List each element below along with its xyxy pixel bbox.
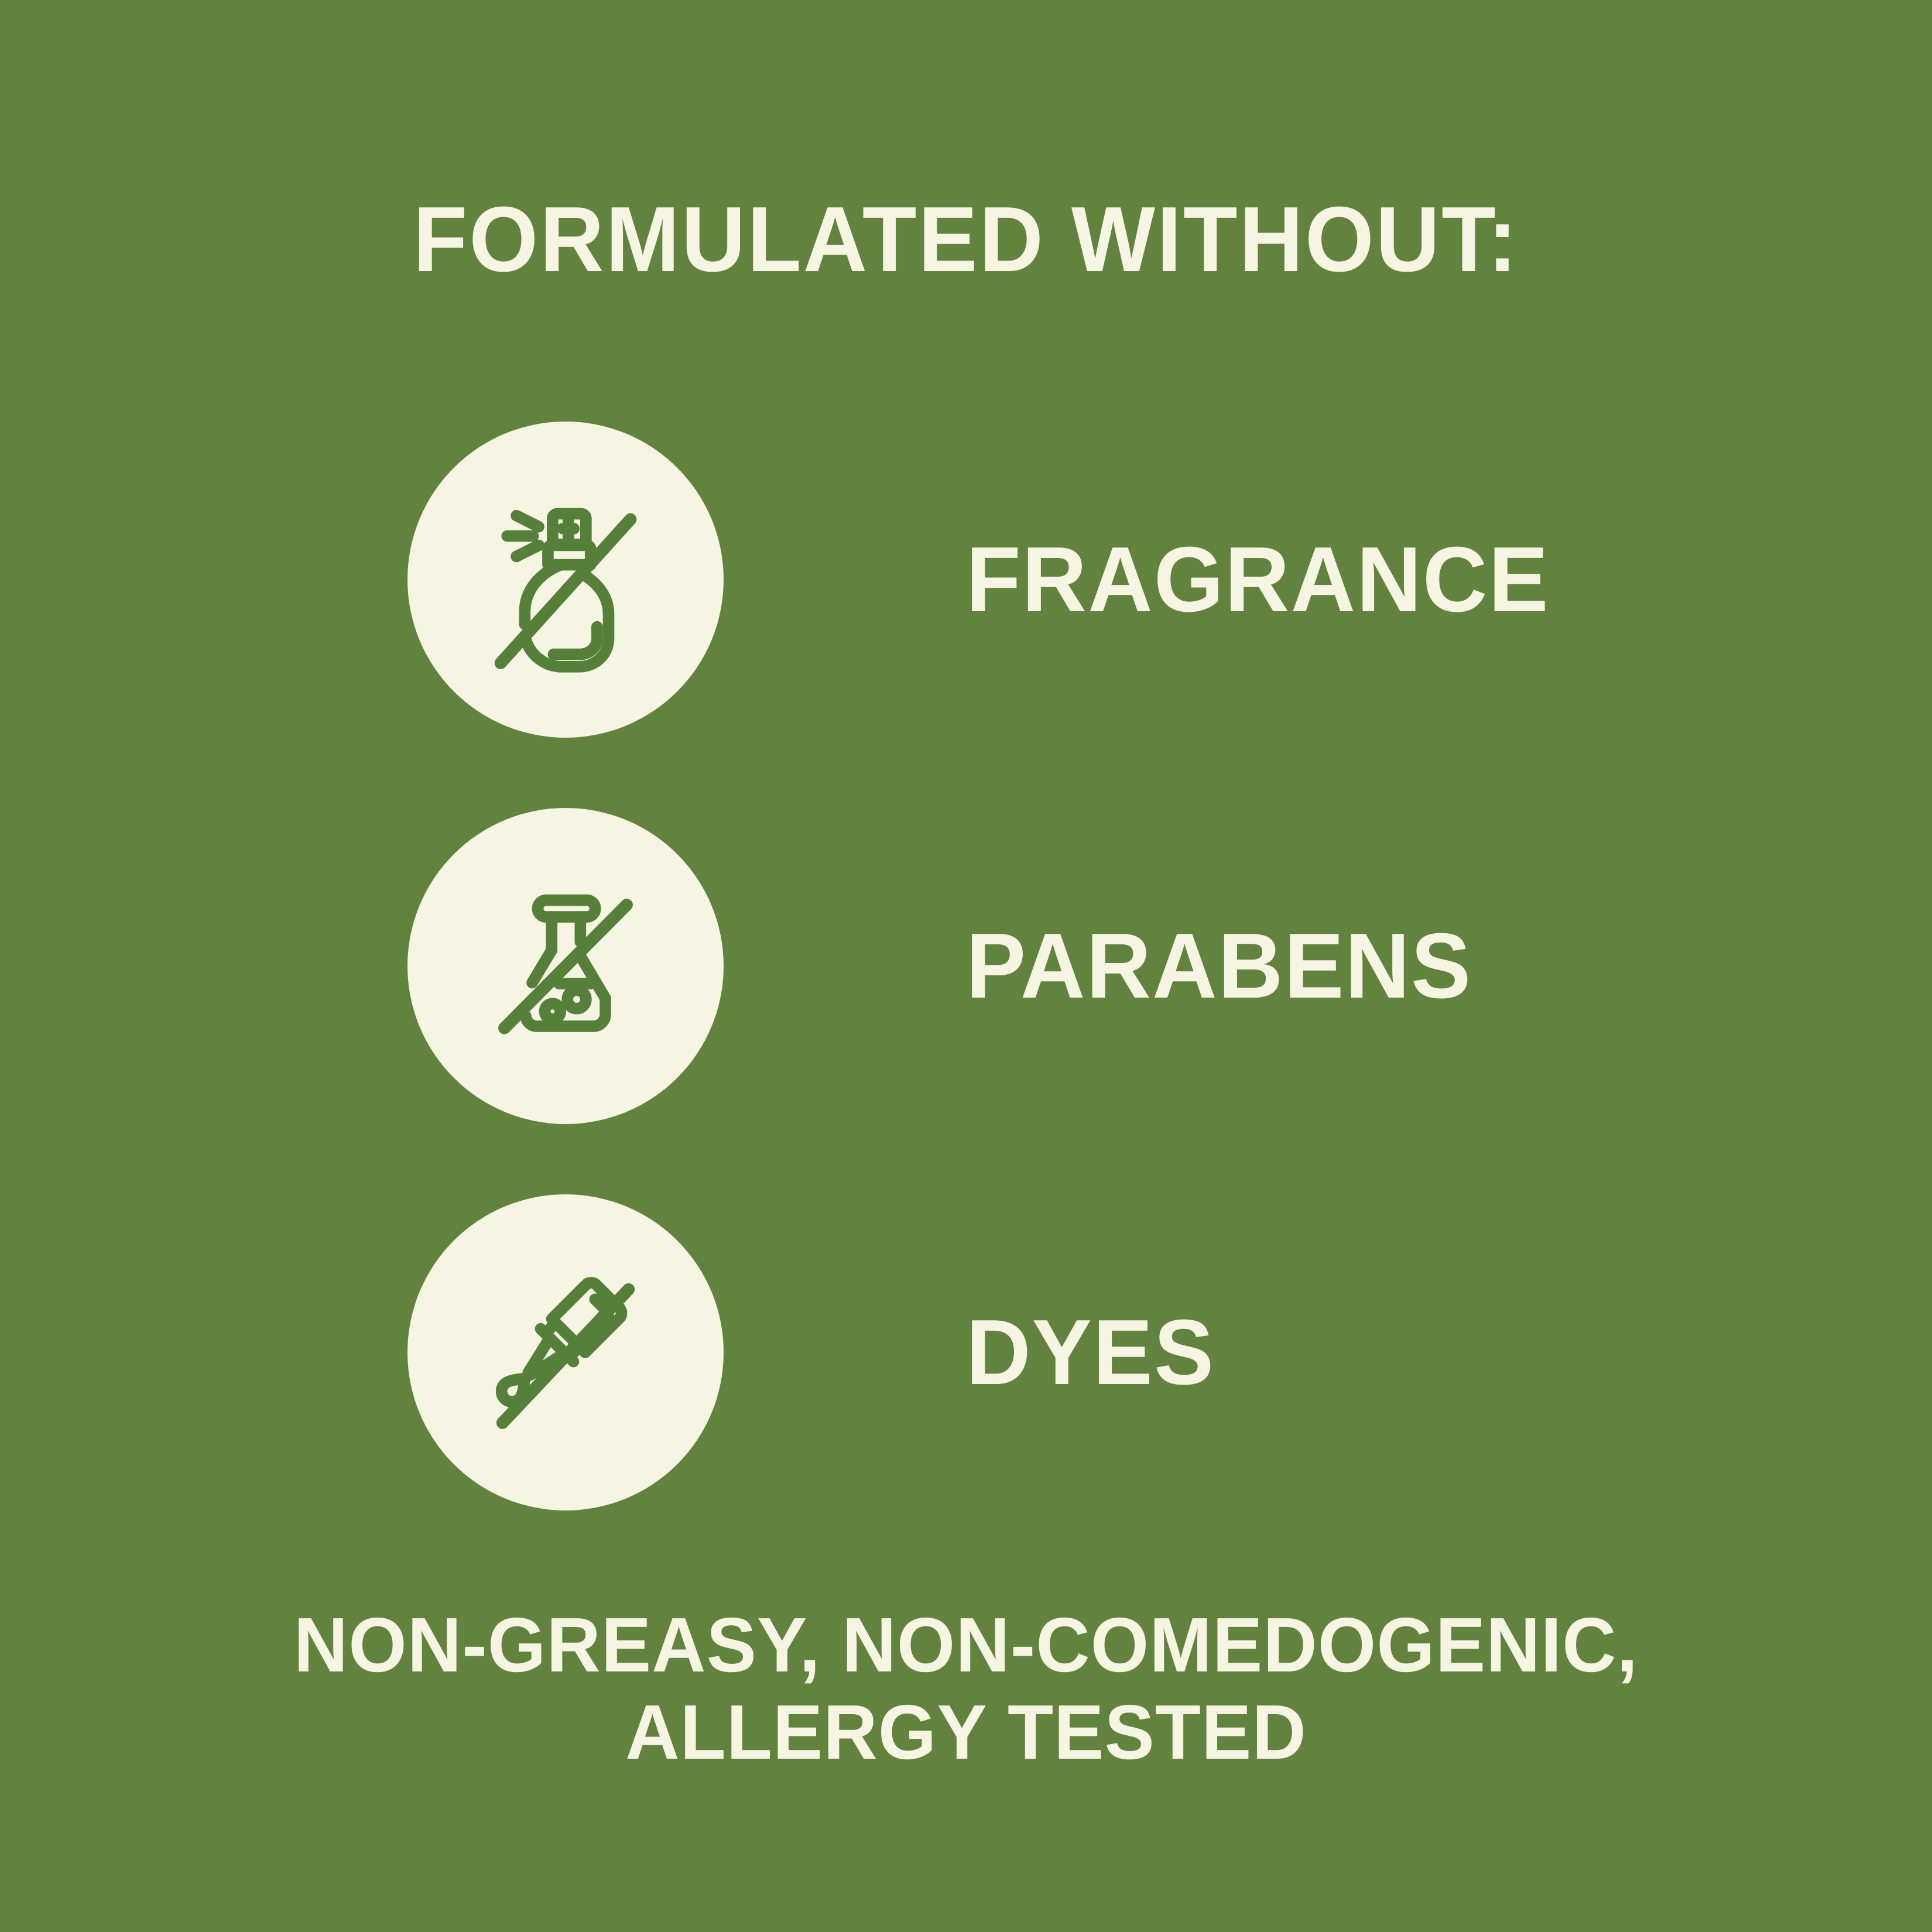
list-item-label: FRAGRANCE [966, 422, 1567, 738]
list-item-label-text: PARABENS [966, 920, 1472, 1012]
list-item: PARABENS [0, 808, 1932, 1124]
footer-claims: NON-GREASY, NON-COMEDOGENIC, ALLERGY TES… [0, 1601, 1932, 1776]
list-item-label-text: DYES [966, 1306, 1215, 1399]
list-item-label: DYES [966, 1194, 1222, 1510]
list-item: DYES [0, 1194, 1932, 1510]
list-item-label: PARABENS [966, 808, 1488, 1124]
formulated-without-poster: FORMULATED WITHOUT: [0, 0, 1932, 1932]
claims-list: FRAGRANCE [0, 422, 1932, 1581]
footer-line-1: NON-GREASY, NON-COMEDOGENIC, [29, 1601, 1903, 1688]
no-dyes-dropper-icon [407, 1194, 724, 1510]
no-parabens-flask-icon [407, 808, 724, 1124]
list-item-label-text: FRAGRANCE [966, 533, 1550, 626]
list-item: FRAGRANCE [0, 422, 1932, 738]
footer-line-2: ALLERGY TESTED [29, 1688, 1903, 1776]
no-fragrance-spray-bottle-icon [407, 422, 724, 738]
page-title: FORMULATED WITHOUT: [39, 193, 1893, 286]
